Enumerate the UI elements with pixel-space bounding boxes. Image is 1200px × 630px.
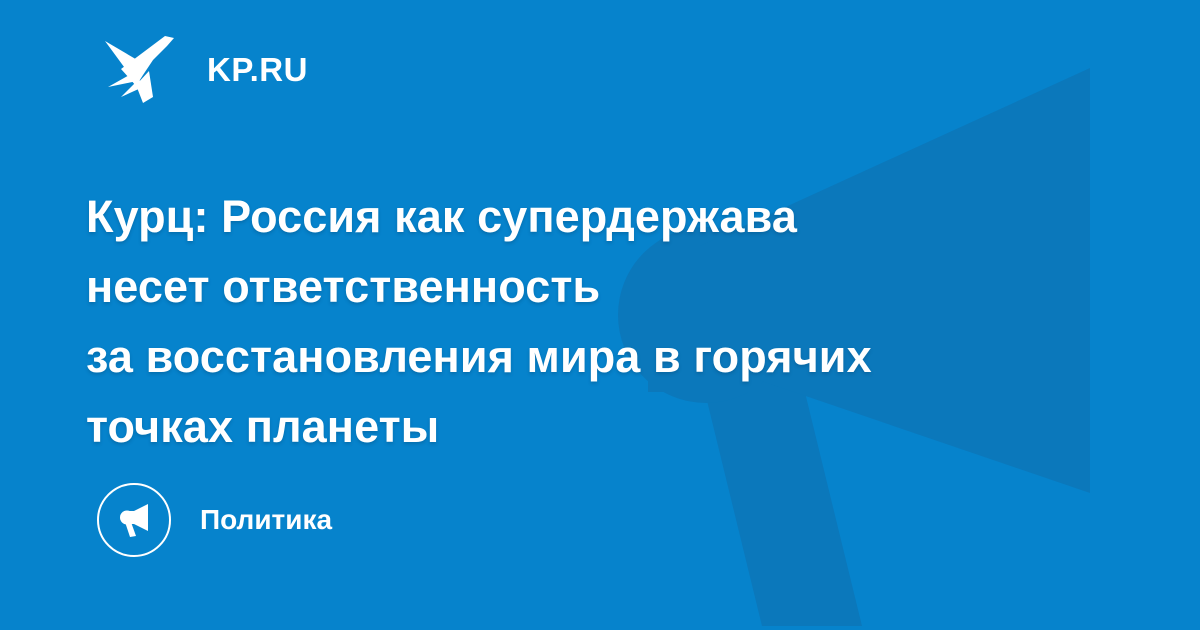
brand-name: KP.RU bbox=[207, 53, 308, 86]
megaphone-icon bbox=[115, 501, 153, 539]
swallow-bird-icon bbox=[103, 35, 177, 103]
brand-header[interactable]: KP.RU bbox=[103, 33, 308, 105]
category-badge[interactable]: Политика bbox=[97, 483, 332, 557]
headline-line-1: Курц: Россия как супердержава bbox=[86, 182, 1116, 252]
category-icon-circle bbox=[97, 483, 171, 557]
social-share-card: KP.RU Курц: Россия как супердержава несе… bbox=[0, 0, 1200, 630]
category-label: Политика bbox=[200, 506, 332, 534]
headline-line-4: точках планеты bbox=[86, 392, 1116, 462]
headline: Курц: Россия как супердержава несет отве… bbox=[86, 182, 1116, 462]
headline-line-3: за восстановления мира в горячих bbox=[86, 322, 1116, 392]
headline-line-2: несет ответственность bbox=[86, 252, 1116, 322]
